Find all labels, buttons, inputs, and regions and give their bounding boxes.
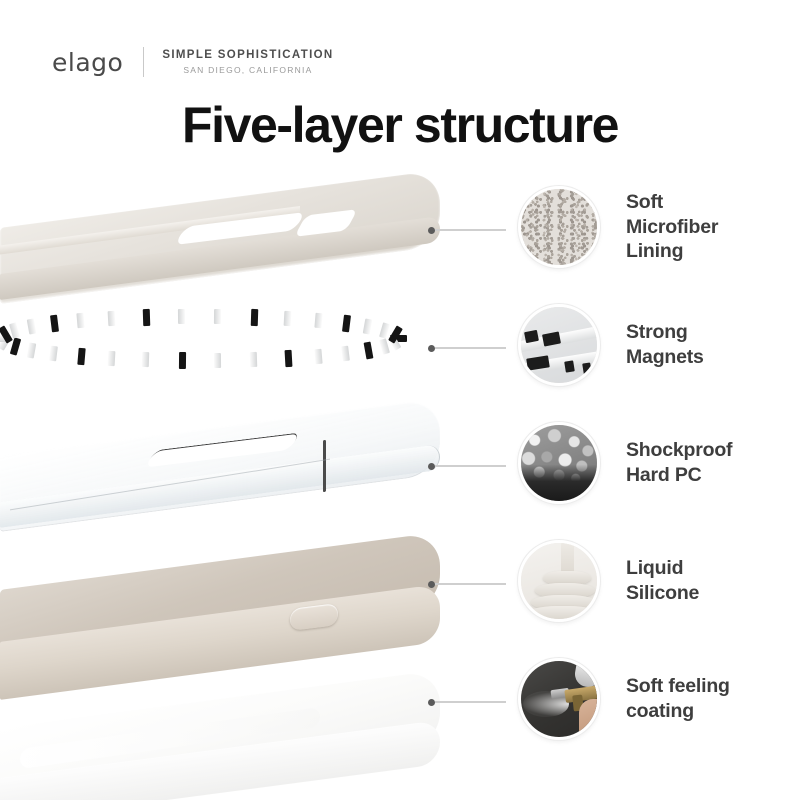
- magnet-segment: [285, 350, 293, 367]
- magnet-segment: [315, 313, 323, 329]
- connector-dot: [428, 699, 435, 706]
- magnet-ring-icon: [518, 304, 600, 386]
- connector-stem: [435, 465, 506, 467]
- legend-label-1: Soft Microfiber Lining: [626, 190, 718, 265]
- magnet-ring-art: [521, 307, 597, 383]
- legend-label-5: Soft feeling coating: [626, 674, 730, 724]
- magnet-segment: [107, 351, 115, 366]
- connector-line-3: [428, 461, 506, 471]
- magnet-block: [564, 360, 575, 372]
- legend-item-5[interactable]: Soft feeling coating: [518, 658, 730, 740]
- silicone-coil: [527, 606, 599, 621]
- magnet-segment: [250, 352, 257, 367]
- microfiber-lining-layer: [0, 170, 470, 290]
- soft-coating-layer: [0, 670, 470, 790]
- pc-corner-highlight: [323, 440, 326, 492]
- spray-gun-icon: [518, 658, 600, 740]
- liquid-silicone-body-layer: [0, 532, 470, 652]
- brand-location: SAN DIEGO, CALIFORNIA: [162, 65, 333, 76]
- brand-tagline-block: SIMPLE SOPHISTICATION SAN DIEGO, CALIFOR…: [162, 48, 333, 75]
- spray-gun-art: [521, 661, 597, 737]
- legend-label-3: Shockproof Hard PC: [626, 438, 732, 488]
- magnet-segment: [26, 342, 36, 358]
- connector-line-2: [428, 343, 506, 353]
- magnet-segment: [363, 319, 373, 335]
- magnet-segment: [341, 345, 350, 361]
- hand: [579, 699, 600, 740]
- magnet-segment: [50, 315, 59, 333]
- pc-pellets-icon: [518, 422, 600, 504]
- connector-line-5: [428, 697, 506, 707]
- infographic-page: elago SIMPLE SOPHISTICATION SAN DIEGO, C…: [0, 0, 800, 800]
- magnet-segment: [379, 338, 390, 354]
- connector-stem: [435, 583, 506, 585]
- magnet-segment: [143, 309, 151, 326]
- magnet-segment: [214, 353, 221, 368]
- magnet-segment: [342, 315, 351, 333]
- microfiber-texture-art: [521, 189, 597, 265]
- magnet-ring: [0, 312, 430, 368]
- connector-line-4: [428, 579, 506, 589]
- magnet-segment: [364, 341, 374, 359]
- hard-pc-shell-layer: [0, 398, 470, 518]
- pc-pellets-art: [521, 425, 597, 501]
- page-title: Five-layer structure: [0, 96, 800, 154]
- magnet-block: [582, 362, 592, 374]
- magnet-segment: [142, 352, 149, 367]
- legend-item-2[interactable]: Strong Magnets: [518, 304, 704, 386]
- magnet-segment: [77, 347, 85, 365]
- legend-item-4[interactable]: Liquid Silicone: [518, 540, 699, 622]
- magnet-segment: [178, 309, 185, 324]
- legend-item-1[interactable]: Soft Microfiber Lining: [518, 186, 718, 268]
- connector-stem: [435, 347, 506, 349]
- magnet-segment: [251, 309, 259, 326]
- magnet-segment: [107, 311, 115, 326]
- legend-item-3[interactable]: Shockproof Hard PC: [518, 422, 732, 504]
- silicone-pour-art: [521, 543, 597, 619]
- exploded-case-illustration: [0, 170, 450, 800]
- microfiber-texture-icon: [518, 186, 600, 268]
- brand-header: elago SIMPLE SOPHISTICATION SAN DIEGO, C…: [52, 44, 334, 80]
- connector-dot: [428, 463, 435, 470]
- brand-tagline: SIMPLE SOPHISTICATION: [162, 48, 333, 62]
- magnet-ring-layer: [0, 312, 440, 372]
- magnet-segment: [315, 348, 323, 364]
- magnet-segment: [49, 345, 58, 361]
- legend-label-4: Liquid Silicone: [626, 556, 699, 606]
- silicone-pour-icon: [518, 540, 600, 622]
- spray-cup: [573, 659, 600, 689]
- connector-dot: [428, 345, 435, 352]
- connector-dot: [428, 227, 435, 234]
- magnet-segment: [26, 319, 36, 335]
- magnet-segment: [76, 313, 84, 329]
- connector-stem: [435, 229, 506, 231]
- elago-logo: elago: [52, 50, 123, 75]
- brand-divider: [143, 47, 144, 77]
- legend-label-2: Strong Magnets: [626, 320, 704, 370]
- connector-dot: [428, 581, 435, 588]
- magnet-segment: [179, 352, 186, 369]
- magnet-segment: [284, 311, 292, 326]
- connector-line-1: [428, 225, 506, 235]
- magnet-segment: [214, 309, 221, 324]
- connector-stem: [435, 701, 506, 703]
